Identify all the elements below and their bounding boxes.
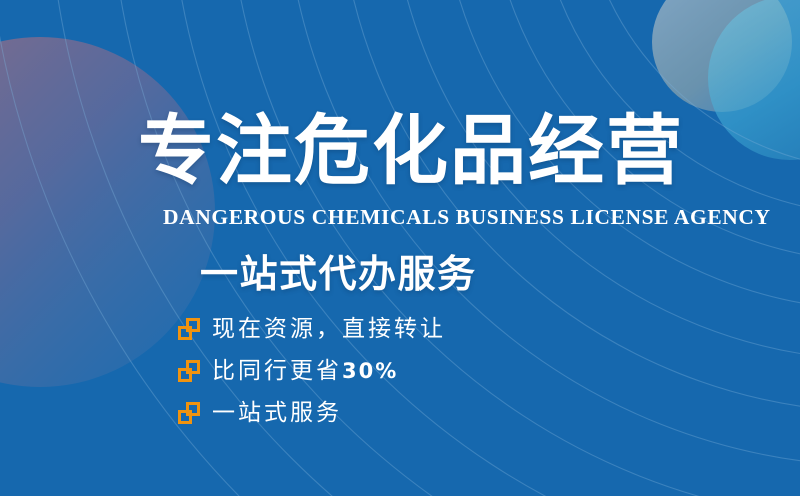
list-item-label: 现在资源，直接转让 [212, 314, 446, 344]
list-item-text: 比同行更省 [212, 358, 342, 383]
overlapping-squares-icon [178, 360, 200, 382]
service-subtitle: 一站式代办服务 [200, 243, 477, 298]
list-item: 一站式服务 [178, 398, 446, 428]
list-item-label: 比同行更省30% [212, 356, 398, 386]
list-item: 比同行更省30% [178, 356, 446, 386]
list-item-text: 现在资源，直接转让 [212, 316, 446, 341]
english-subtitle: DANGEROUS CHEMICALS BUSINESS LICENSE AGE… [163, 205, 771, 230]
feature-list: 现在资源，直接转让 比同行更省30% 一站式服务 [178, 314, 446, 428]
banner-content: 专注危化品经营 DANGEROUS CHEMICALS BUSINESS LIC… [0, 0, 800, 496]
list-item-text: 一站式服务 [212, 400, 342, 425]
overlapping-squares-icon [178, 402, 200, 424]
page-title: 专注危化品经营 [138, 108, 684, 194]
list-item-label: 一站式服务 [212, 398, 342, 428]
list-item: 现在资源，直接转让 [178, 314, 446, 344]
promotional-banner: 专注危化品经营 DANGEROUS CHEMICALS BUSINESS LIC… [0, 0, 800, 496]
overlapping-squares-icon [178, 318, 200, 340]
list-item-number: 30% [342, 359, 398, 383]
